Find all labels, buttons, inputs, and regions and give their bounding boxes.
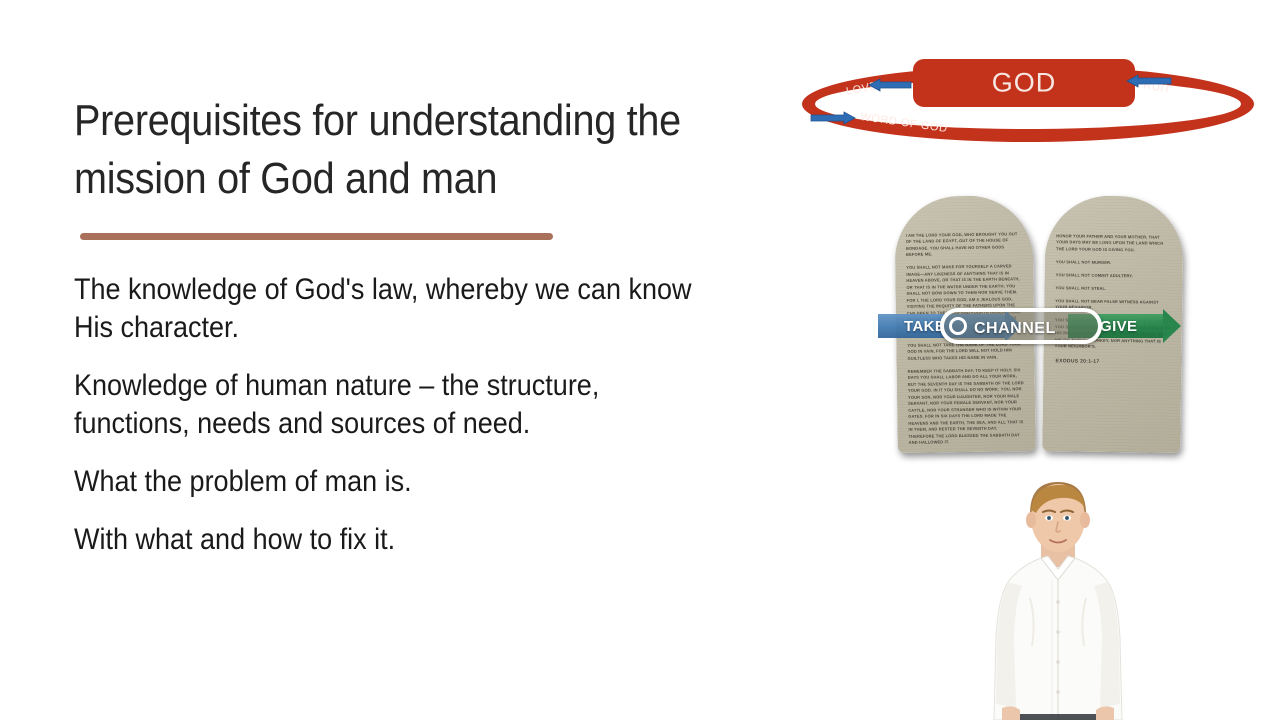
man-in-white-shirt-illustration [958,470,1158,720]
tablet-scripture-reference: EXODUS 20:1-17 [1055,358,1099,365]
channel-pill: CHANNEL [940,308,1102,344]
person-photo [958,470,1158,720]
title-divider [80,233,553,240]
arrow-left-fruit-icon [1126,74,1172,88]
list-item: What the problem of man is. [74,463,740,501]
page-title: Prerequisites for understanding the miss… [74,92,722,208]
give-label: GIVE [1100,318,1137,335]
ten-commandments-tablets: I AM THE LORD YOUR GOD, WHO BROUGHT YOU … [886,196,1194,454]
channel-label: CHANNEL [974,320,1056,338]
god-cycle-diagram: GOD LOVE FRUIT WORD OF GOD [800,52,1260,154]
slide-text-column: Prerequisites for understanding the miss… [74,92,794,208]
arrow-left-love-icon [868,78,912,92]
list-item: The knowledge of God's law, whereby we c… [74,271,740,347]
list-item: Knowledge of human nature – the structur… [74,367,740,443]
presentation-slide: Prerequisites for understanding the miss… [0,0,1280,720]
god-center-box: GOD [913,59,1135,107]
channel-knob-icon [949,317,967,335]
arrow-right-word-of-god-icon [810,111,856,125]
bullet-list: The knowledge of God's law, whereby we c… [74,271,814,560]
god-center-label: GOD [913,68,1135,99]
list-item: With what and how to fix it. [74,521,740,559]
take-channel-give-banner: TAKE GIVE CHANNEL [878,308,1198,344]
